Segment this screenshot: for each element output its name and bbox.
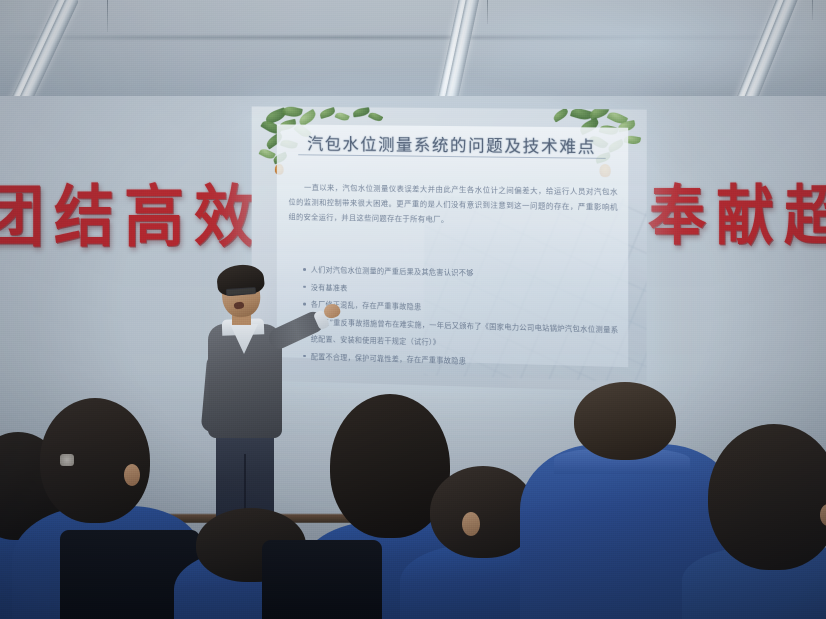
wall-slogan-left: 团结高效 — [0, 163, 264, 260]
slide-paragraph: 一直以来，汽包水位测量仪表误差大并由此产生各水位计之间偏差大，给运行人员对汽包水… — [288, 180, 617, 230]
audience-head — [40, 398, 150, 523]
hair-clip-icon — [60, 454, 74, 466]
presenter — [186, 258, 312, 520]
light-hanger-wire — [107, 0, 108, 32]
slide-paragraph-lead: 一直以来， — [304, 183, 342, 192]
light-hanger-wire — [487, 0, 488, 24]
chair-back — [262, 540, 382, 619]
ceiling — [0, 0, 826, 104]
audience-member-7 — [692, 424, 826, 619]
photograph-scene: 团结高效 奉献超越 — [0, 0, 826, 619]
slide-bullet-list: 人们对汽包水位测量的严重后果及其危害认识不够 没有基准表 各厂修正混乱，存在严重… — [302, 261, 620, 374]
slide: 汽包水位测量系统的问题及技术难点 一直以来，汽包水位测量仪表误差大并由此产生各水… — [277, 124, 628, 367]
audience-ear — [462, 512, 480, 536]
audience-ear — [124, 464, 140, 486]
wall-slogan-right: 奉献超越 — [648, 163, 826, 257]
light-hanger-wire — [812, 0, 813, 20]
audience-head — [708, 424, 826, 570]
audience-head — [574, 382, 676, 460]
